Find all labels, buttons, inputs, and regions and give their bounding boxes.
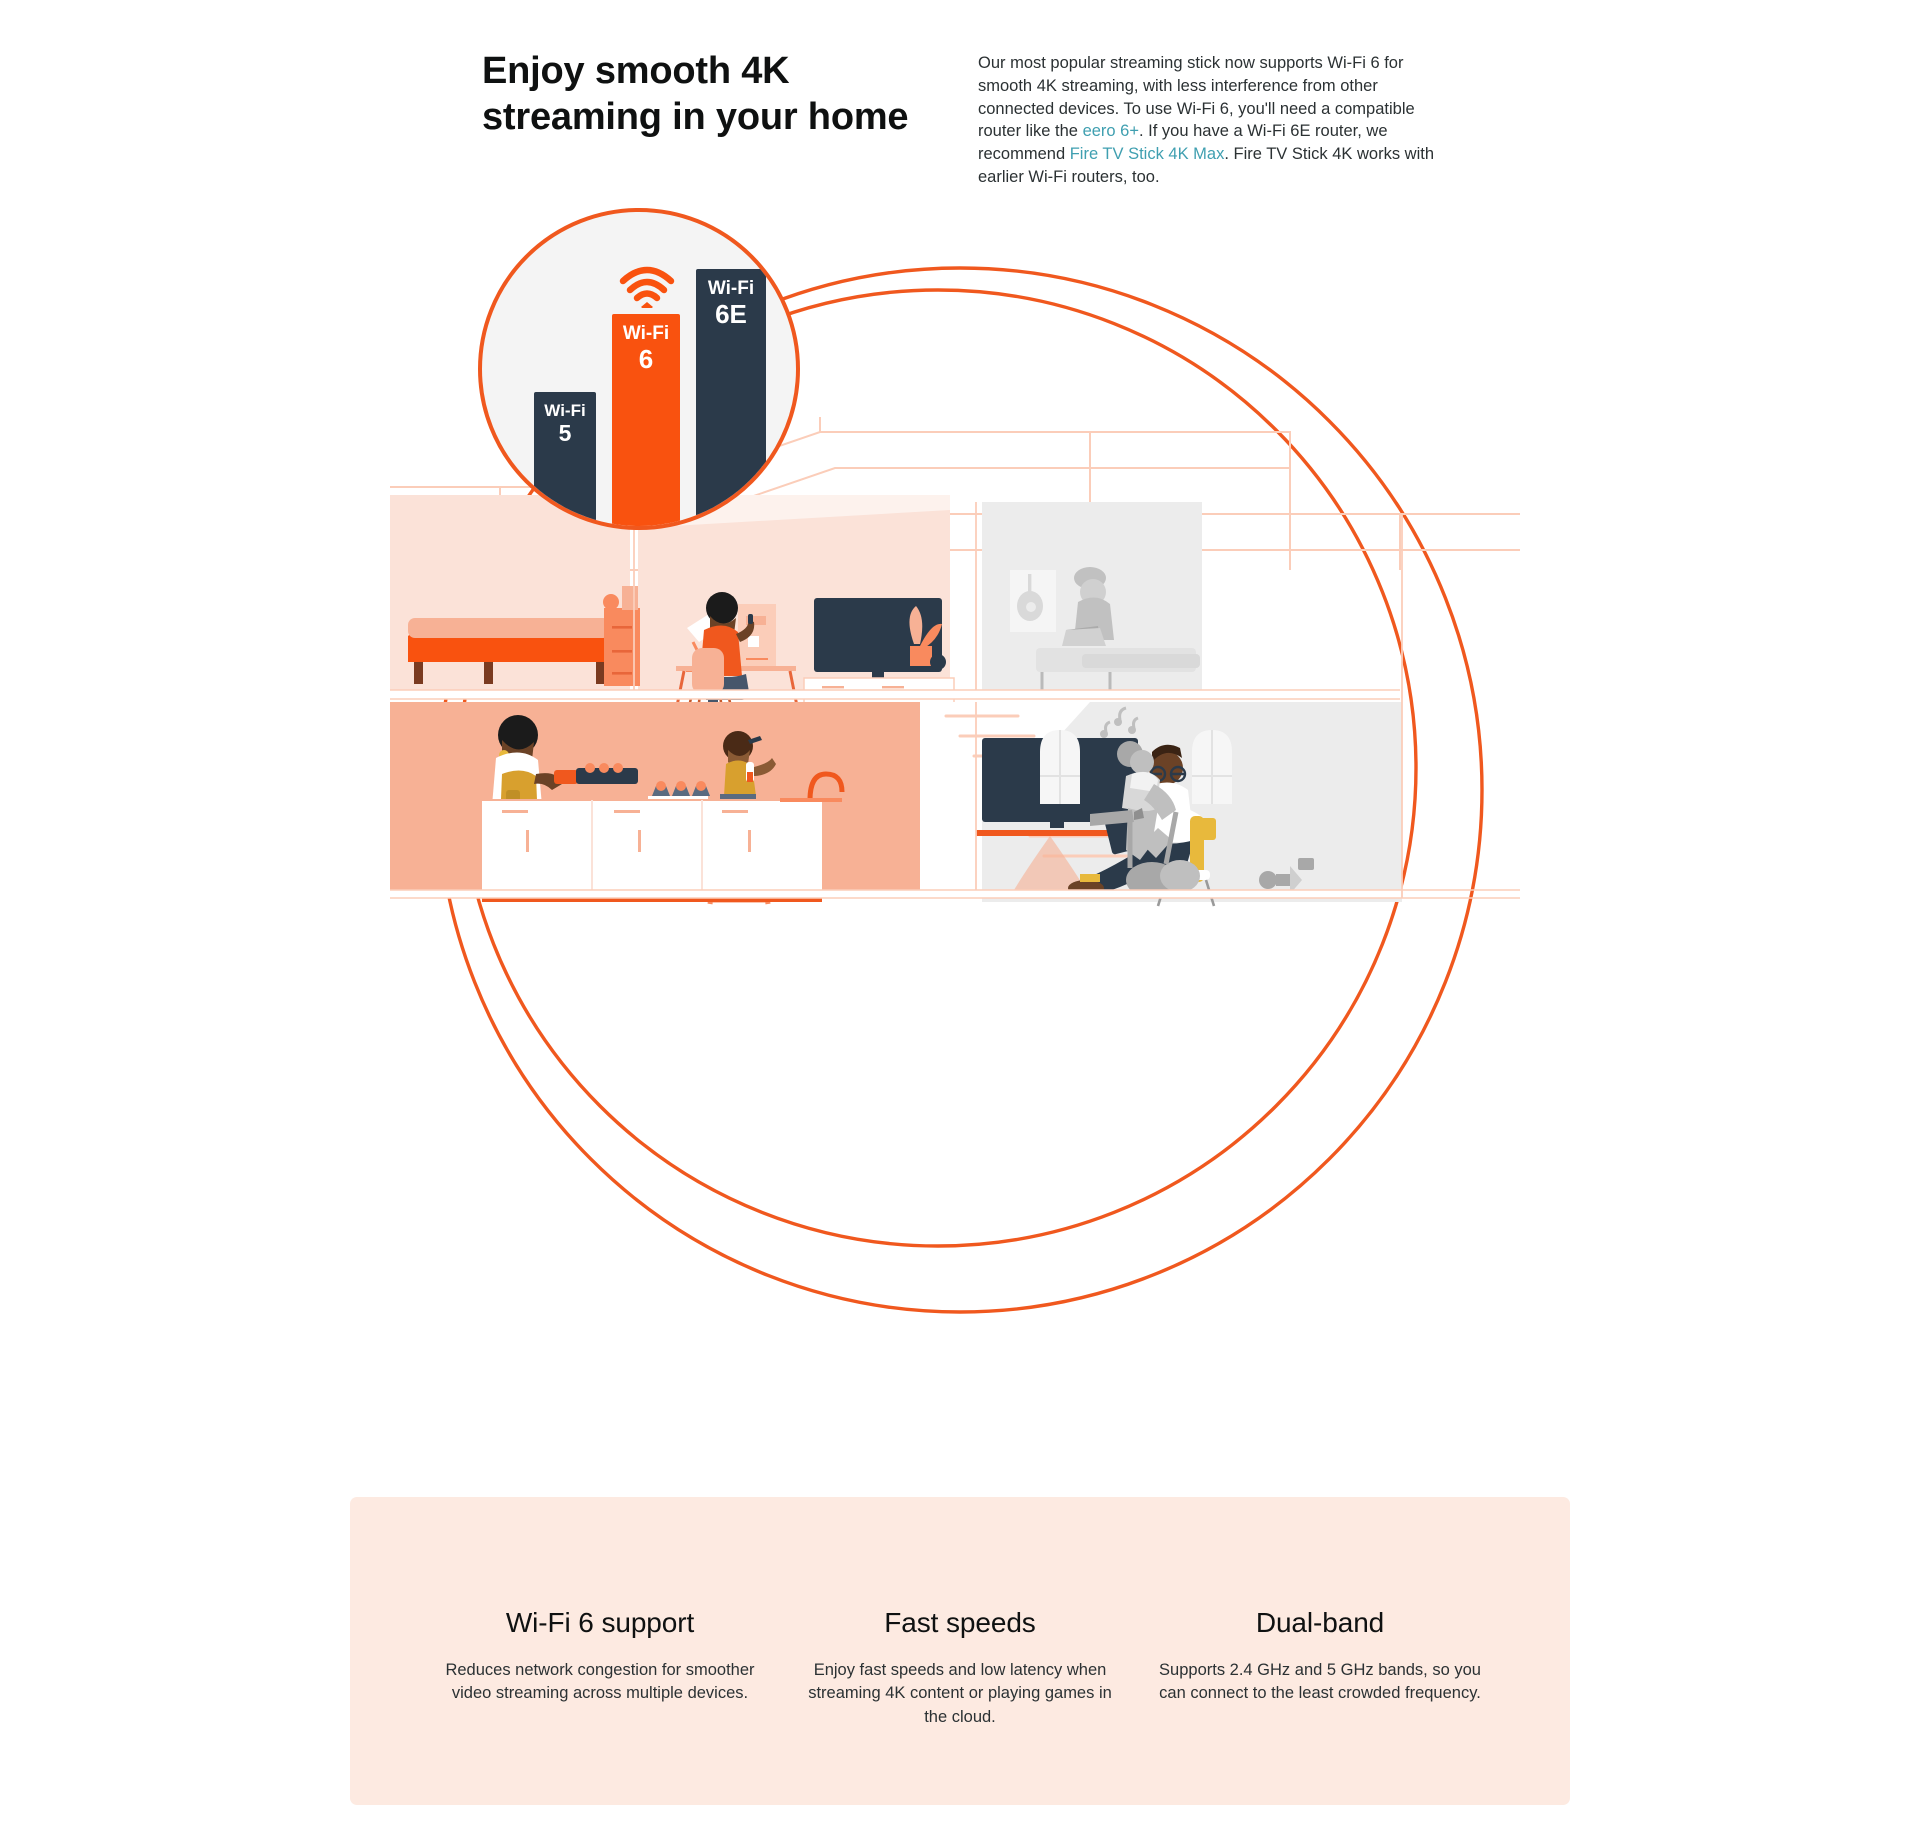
feature-title: Dual-band [1156, 1607, 1484, 1639]
feature-card-fast-speeds: Fast speeds Enjoy fast speeds and low la… [780, 1607, 1140, 1729]
smart-speaker [930, 654, 946, 670]
bar-wifi-6-value: 6 [612, 345, 680, 374]
bar-wifi-6: Wi-Fi 6 [612, 314, 680, 526]
feature-title: Fast speeds [796, 1607, 1124, 1639]
eero-link[interactable]: eero 6+ [1083, 122, 1139, 140]
wifi-signal-icon [618, 264, 676, 308]
intro-paragraph: Our most popular streaming stick now sup… [978, 52, 1456, 189]
wifi-bar-chart: Wi-Fi 5 Wi-Fi 6 Wi-Fi 6E [482, 212, 796, 526]
kitchen-counter [482, 800, 822, 902]
wifi-comparison-bubble: Wi-Fi 5 Wi-Fi 6 Wi-Fi 6E [478, 208, 800, 530]
bar-wifi-5: Wi-Fi 5 [534, 392, 596, 526]
page-title: Enjoy smooth 4K streaming in your home [482, 48, 952, 141]
bar-wifi-6e: Wi-Fi 6E [696, 269, 766, 526]
feature-description: Reduces network congestion for smoother … [436, 1659, 764, 1706]
feature-card-wifi6-support: Wi-Fi 6 support Reduces network congesti… [420, 1607, 780, 1729]
bar-wifi-6e-label: Wi-Fi [708, 278, 754, 299]
feature-list: Wi-Fi 6 support Reduces network congesti… [420, 1607, 1500, 1729]
floor-divider [390, 690, 1408, 699]
promo-stage: Enjoy smooth 4K streaming in your home O… [0, 0, 1920, 1840]
feature-panel: Wi-Fi 6 support Reduces network congesti… [350, 1497, 1570, 1805]
feature-card-dual-band: Dual-band Supports 2.4 GHz and 5 GHz ban… [1140, 1607, 1500, 1729]
cupcakes [648, 781, 710, 801]
ground-line [390, 890, 1408, 898]
bar-wifi-6e-value: 6E [696, 300, 766, 329]
bar-wifi-5-label: Wi-Fi [544, 401, 585, 420]
feature-description: Enjoy fast speeds and low latency when s… [796, 1659, 1124, 1729]
feature-title: Wi-Fi 6 support [436, 1607, 764, 1639]
bar-wifi-6-label: Wi-Fi [623, 323, 669, 344]
bar-wifi-5-value: 5 [534, 421, 596, 447]
feature-description: Supports 2.4 GHz and 5 GHz bands, so you… [1156, 1659, 1484, 1706]
fire-tv-stick-4k-max-link[interactable]: Fire TV Stick 4K Max [1070, 145, 1225, 163]
